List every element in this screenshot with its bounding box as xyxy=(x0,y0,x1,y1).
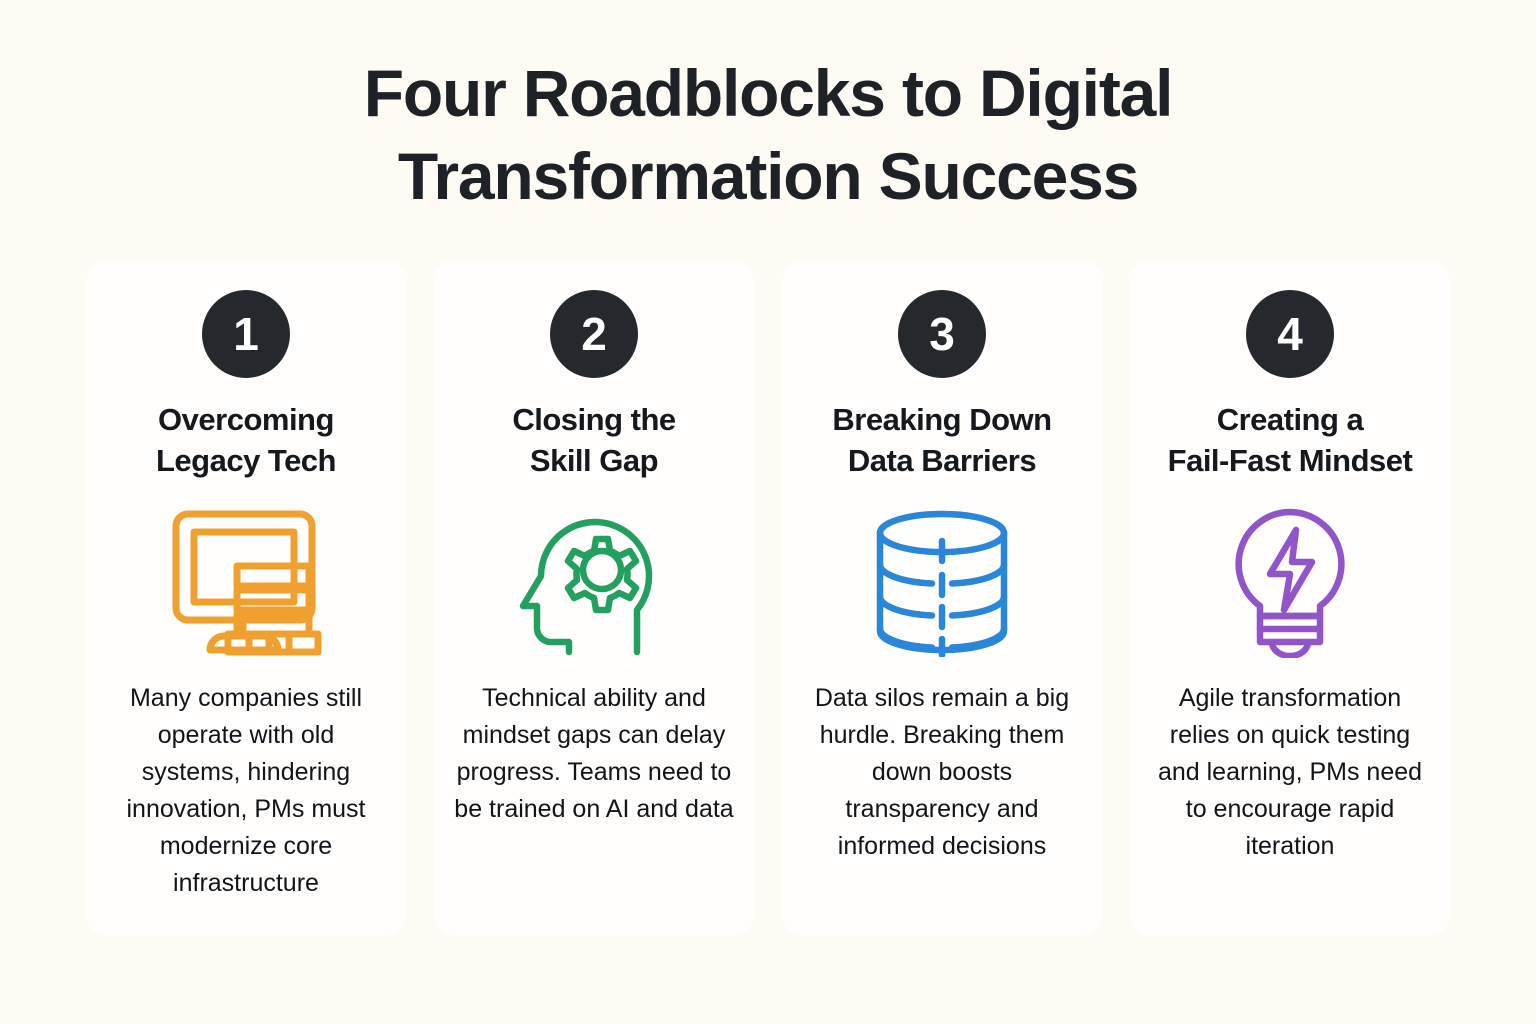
roadblock-card-4: 4 Creating a Fail-Fast Mindset Agile tra… xyxy=(1131,260,1449,936)
card-number-badge-3: 3 xyxy=(898,290,986,378)
card-body-4: Agile transformation relies on quick tes… xyxy=(1149,680,1431,865)
card-heading-4: Creating a Fail-Fast Mindset xyxy=(1168,400,1413,482)
lightbulb-lightning-icon xyxy=(1220,502,1360,662)
card-heading-2: Closing the Skill Gap xyxy=(512,400,675,482)
card-number-badge-2: 2 xyxy=(550,290,638,378)
roadblock-card-3: 3 Breaking Down Data Barriers Data silos… xyxy=(783,260,1101,936)
card-heading-3: Breaking Down Data Barriers xyxy=(832,400,1051,482)
card-number-badge-1: 1 xyxy=(202,290,290,378)
card-number-badge-4: 4 xyxy=(1246,290,1334,378)
roadblock-card-1: 1 Overcoming Legacy Tech Many companies … xyxy=(87,260,405,936)
card-body-3: Data silos remain a big hurdle. Breaking… xyxy=(801,680,1083,865)
infographic-page: Four Roadblocks to Digital Transformatio… xyxy=(0,0,1536,1024)
database-silo-icon xyxy=(869,502,1015,662)
card-heading-1: Overcoming Legacy Tech xyxy=(156,400,336,482)
roadblock-card-2: 2 Closing the Skill Gap Technical abilit… xyxy=(435,260,753,936)
page-title: Four Roadblocks to Digital Transformatio… xyxy=(228,0,1308,218)
legacy-computer-server-icon xyxy=(166,502,326,662)
card-body-2: Technical ability and mindset gaps can d… xyxy=(453,680,735,828)
roadblock-cards-row: 1 Overcoming Legacy Tech Many companies … xyxy=(0,260,1536,936)
head-with-gear-icon xyxy=(515,502,673,662)
card-body-1: Many companies still operate with old sy… xyxy=(105,680,387,902)
